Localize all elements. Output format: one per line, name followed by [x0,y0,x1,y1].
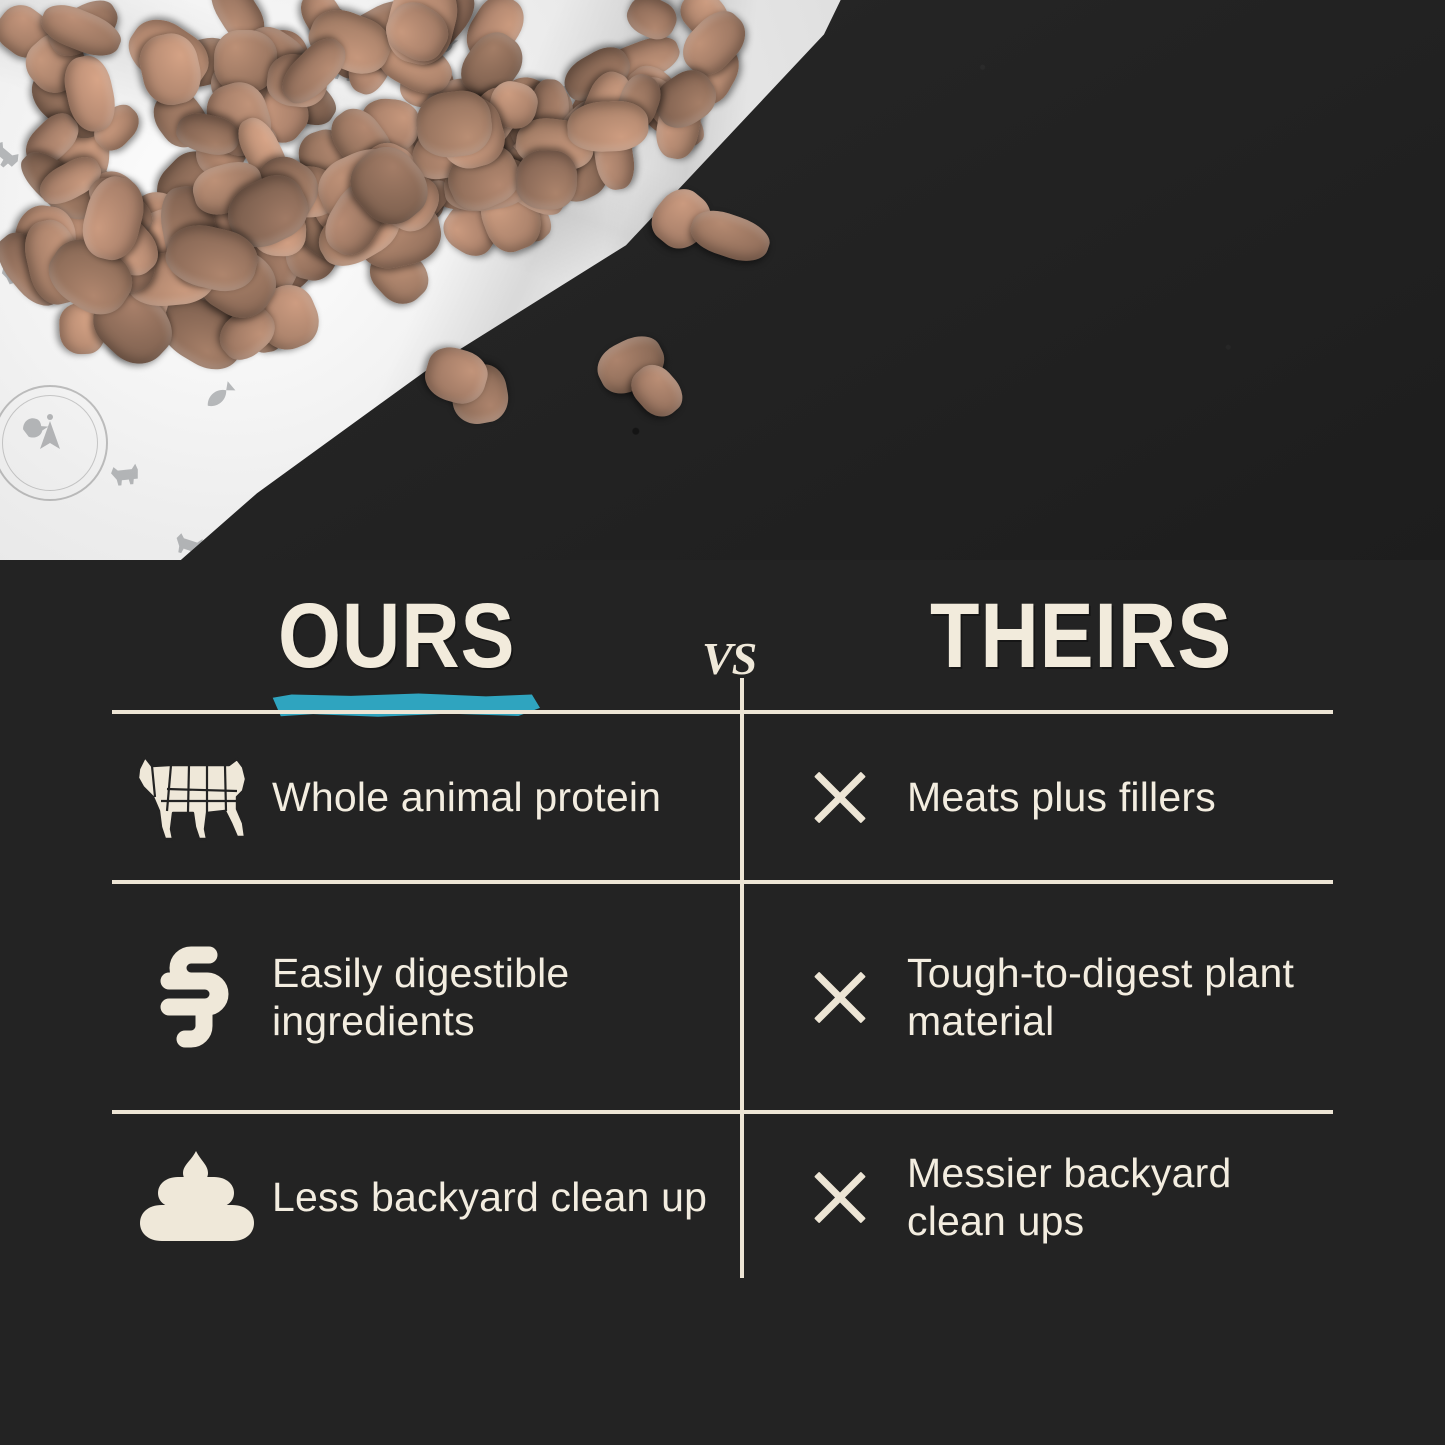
comparison-headers: OURS VS THEIRS [112,580,1333,710]
ours-row-1: Whole animal protein [122,714,722,880]
grid-divider-vertical [740,678,744,1278]
product-photo-area [0,0,1445,560]
cow-butcher-chart-icon [122,745,272,849]
ours-row-2: Easily digestible ingredients [122,884,722,1110]
butcher-paper-stamp [0,385,108,501]
theirs-row-2: Tough-to-digest plant material [772,884,1332,1110]
theirs-heading: THEIRS [930,590,1232,682]
ours-row-3-text: Less backyard clean up [272,1173,707,1221]
x-mark-icon [772,766,907,828]
comparison-grid: Whole animal protein Meats plus fillers [112,710,1333,1280]
versus-label: VS [702,632,756,685]
ours-row-3: Less backyard clean up [122,1114,722,1280]
intestine-icon [122,941,272,1053]
theirs-row-1: Meats plus fillers [772,714,1332,880]
theirs-row-2-text: Tough-to-digest plant material [907,949,1332,1046]
theirs-row-3-text: Messier backyard clean ups [907,1149,1332,1246]
x-mark-icon [772,966,907,1028]
theirs-row-1-text: Meats plus fillers [907,773,1216,821]
ours-heading: OURS [278,590,515,682]
theirs-row-3: Messier backyard clean ups [772,1114,1332,1280]
comparison-section: OURS VS THEIRS [0,540,1445,1445]
ours-row-1-text: Whole animal protein [272,773,661,821]
x-mark-icon [772,1166,907,1228]
poop-icon [122,1145,272,1249]
ours-row-2-text: Easily digestible ingredients [272,949,722,1046]
